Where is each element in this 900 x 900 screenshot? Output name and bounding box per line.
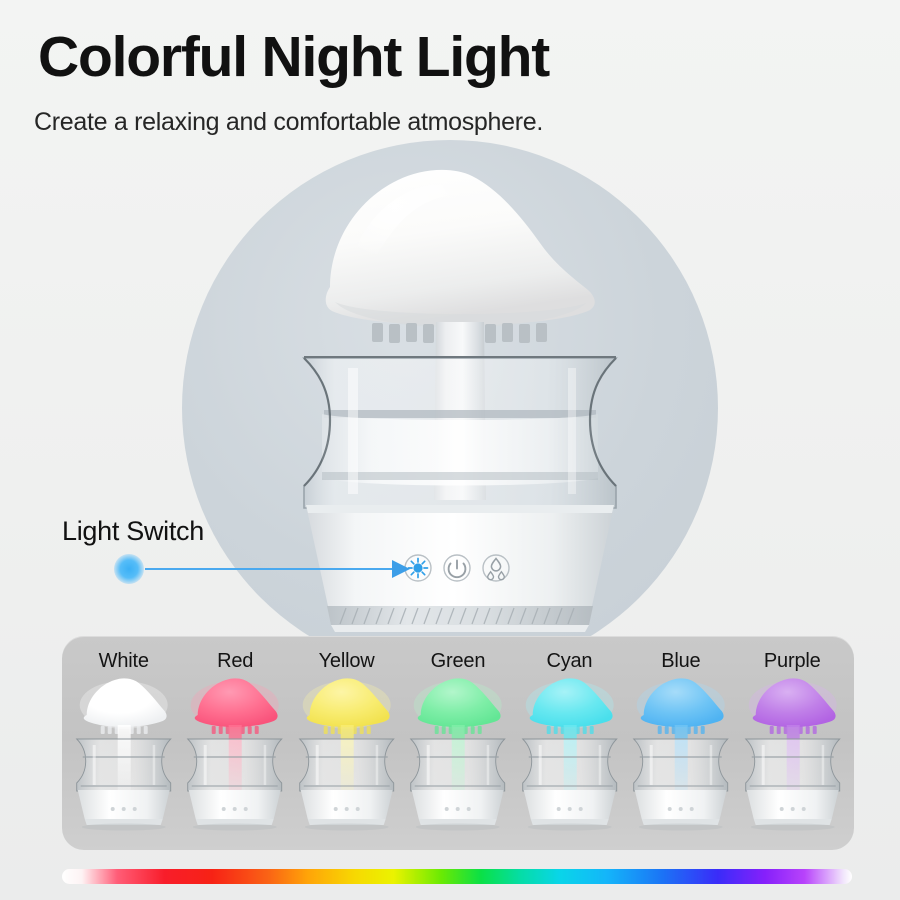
- color-swatch-green[interactable]: Green: [402, 636, 513, 850]
- mini-humidifier-purple: [737, 675, 848, 833]
- color-swatch-purple[interactable]: Purple: [737, 636, 848, 850]
- mini-humidifier-cyan: [514, 675, 625, 833]
- mini-humidifier-blue: [625, 675, 736, 833]
- page-title: Colorful Night Light: [38, 28, 549, 88]
- mini-humidifier-red: [179, 675, 290, 833]
- callout-leader-line: [145, 568, 401, 570]
- color-swatch-row: WhiteRedYellowGreenCyanBluePurple: [62, 636, 854, 850]
- color-swatch-cyan[interactable]: Cyan: [514, 636, 625, 850]
- light-switch-callout-label: Light Switch: [62, 516, 204, 547]
- color-swatch-panel: WhiteRedYellowGreenCyanBluePurple: [62, 636, 854, 850]
- color-swatch-yellow[interactable]: Yellow: [291, 636, 402, 850]
- mini-humidifier-white: [68, 675, 179, 833]
- color-swatch-blue[interactable]: Blue: [625, 636, 736, 850]
- color-swatch-label: Cyan: [546, 650, 592, 673]
- callout-arrow-icon: [392, 560, 410, 578]
- mini-humidifier-green: [402, 675, 513, 833]
- callout-origin-dot: [114, 554, 144, 584]
- color-swatch-red[interactable]: Red: [179, 636, 290, 850]
- mini-humidifier-yellow: [291, 675, 402, 833]
- color-swatch-label: Red: [217, 650, 253, 673]
- color-swatch-label: White: [99, 650, 149, 673]
- color-swatch-label: Purple: [764, 650, 821, 673]
- color-swatch-label: Yellow: [319, 650, 375, 673]
- color-swatch-label: Green: [431, 650, 486, 673]
- hero-backdrop-circle: [182, 140, 718, 676]
- page-subtitle: Create a relaxing and comfortable atmosp…: [34, 108, 543, 137]
- color-swatch-label: Blue: [661, 650, 700, 673]
- color-swatch-white[interactable]: White: [68, 636, 179, 850]
- color-spectrum-bar: [62, 869, 852, 884]
- page-root: Colorful Night Light Create a relaxing a…: [0, 0, 900, 900]
